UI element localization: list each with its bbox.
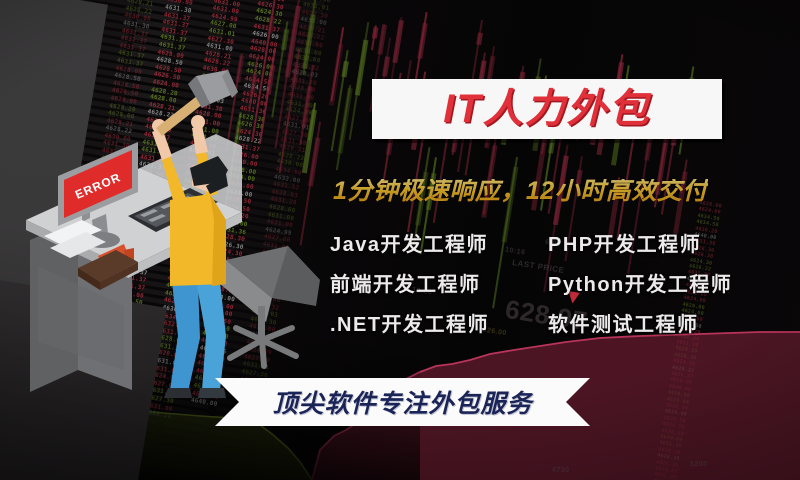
office-chair-icon bbox=[220, 246, 320, 366]
subtitle-text: 1分钟极速响应，12小时高效交付 bbox=[333, 179, 708, 204]
page-title: IT人力外包 bbox=[443, 89, 651, 129]
main-title-banner: IT人力外包 bbox=[372, 79, 722, 139]
ribbon-text: 顶尖软件专注外包服务 bbox=[215, 378, 590, 426]
developer-illustration: ERROR bbox=[20, 70, 320, 420]
role-row: Java开发工程师 PHP开发工程师 bbox=[330, 222, 790, 262]
role-item: 软件测试工程师 bbox=[548, 308, 788, 337]
slogan-ribbon: 顶尖软件专注外包服务 bbox=[215, 378, 590, 426]
axis-label-5200: 5200 bbox=[690, 461, 708, 468]
role-item: Java开发工程师 bbox=[330, 228, 548, 257]
role-item: 前端开发工程师 bbox=[330, 268, 548, 297]
role-row: 前端开发工程师 Python开发工程师 bbox=[330, 262, 790, 302]
person-right-leg bbox=[196, 280, 226, 390]
axis-label-4730: 4730 bbox=[552, 467, 570, 474]
person-left-leg bbox=[170, 282, 200, 392]
role-row: .NET开发工程师 软件测试工程师 bbox=[330, 302, 790, 342]
subtitle-container: 1分钟极速响应，12小时高效交付 bbox=[333, 176, 778, 206]
role-item: Python开发工程师 bbox=[548, 268, 788, 297]
poster-root: 4628.204628.004628.214628.224630.004631.… bbox=[0, 0, 800, 480]
role-item: PHP开发工程师 bbox=[548, 228, 788, 257]
role-item: .NET开发工程师 bbox=[330, 308, 548, 337]
role-list: Java开发工程师 PHP开发工程师 前端开发工程师 Python开发工程师 .… bbox=[330, 222, 790, 342]
